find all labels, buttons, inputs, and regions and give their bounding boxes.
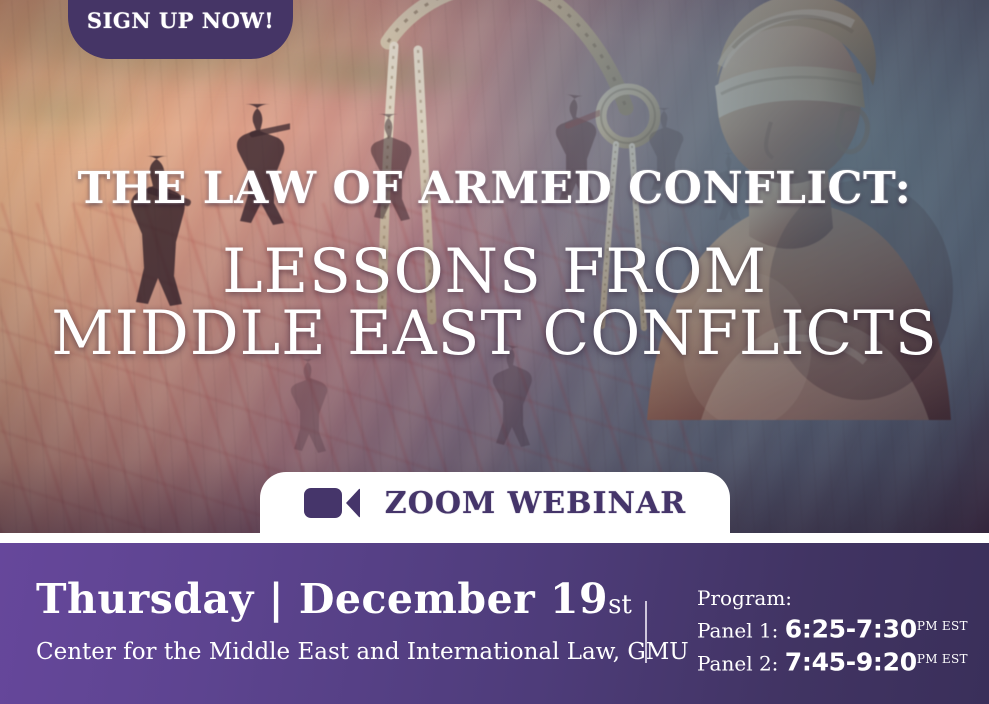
sign-up-now-label: SIGN UP NOW! — [87, 8, 274, 33]
program-session-row: Panel 1: 6:25-7:30PM EST — [697, 613, 968, 644]
event-venue: Center for the Middle East and Internati… — [36, 637, 636, 667]
panel-1-label: Panel 1: — [697, 619, 778, 643]
hero-image: SIGN UP NOW! THE LAW OF ARMED CONFLICT: … — [0, 0, 989, 533]
footer-divider — [645, 601, 647, 663]
title-line-3: MIDDLE EAST CONFLICTS — [0, 306, 989, 362]
panel-2-label: Panel 2: — [697, 651, 778, 675]
webinar-promo-poster: SIGN UP NOW! THE LAW OF ARMED CONFLICT: … — [0, 0, 989, 704]
event-date-ordinal: st — [608, 590, 632, 620]
event-date: Thursday | December 19st — [36, 575, 636, 629]
panel-1-time: 6:25-7:30 — [785, 615, 917, 644]
poster-title-block: THE LAW OF ARMED CONFLICT: LESSONS FROM … — [0, 160, 989, 362]
program-heading: Program: — [697, 585, 968, 611]
video-camera-icon — [304, 486, 360, 520]
event-date-main: Thursday | December 19 — [36, 575, 608, 623]
title-line-2: LESSONS FROM — [0, 244, 989, 300]
panel-2-time: 7:45-9:20 — [785, 647, 917, 676]
title-line-1: THE LAW OF ARMED CONFLICT: — [0, 160, 989, 218]
zoom-webinar-banner[interactable]: ZOOM WEBINAR — [260, 472, 730, 533]
program-block: Program: Panel 1: 6:25-7:30PM EST Panel … — [697, 585, 968, 676]
event-details-footer: Thursday | December 19st Center for the … — [0, 543, 989, 704]
panel-1-timezone: PM EST — [917, 619, 968, 633]
event-when-block: Thursday | December 19st Center for the … — [36, 575, 636, 667]
sign-up-now-button[interactable]: SIGN UP NOW! — [68, 0, 293, 59]
program-session-row: Panel 2: 7:45-9:20PM EST — [697, 646, 968, 677]
zoom-webinar-label: ZOOM WEBINAR — [385, 486, 686, 521]
panel-2-timezone: PM EST — [917, 652, 968, 666]
